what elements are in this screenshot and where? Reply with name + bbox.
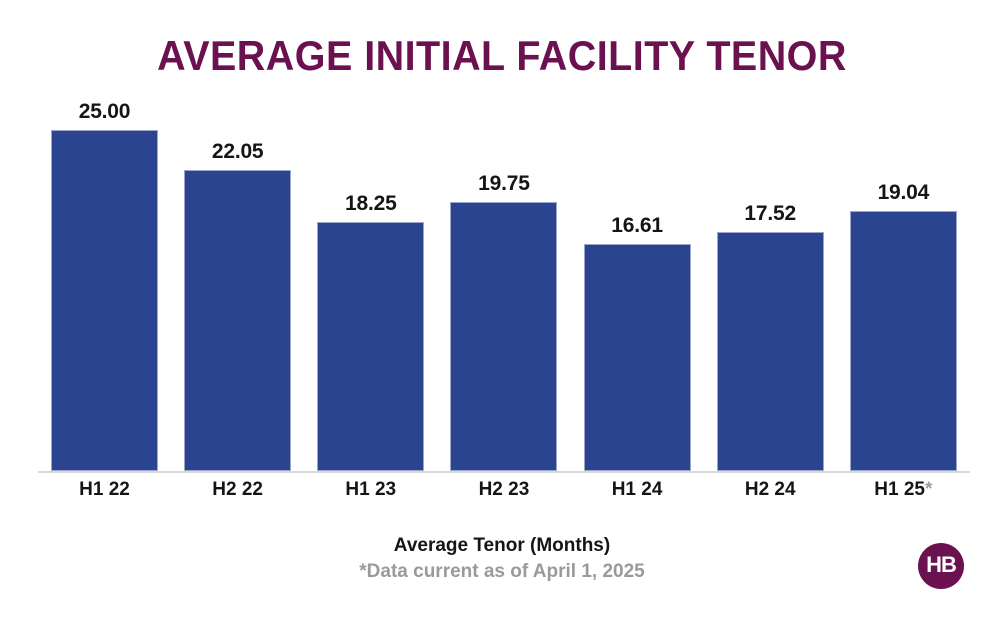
chart-footnote: *Data current as of April 1, 2025 xyxy=(0,560,1004,584)
bar-value-label: 25.00 xyxy=(38,100,171,124)
hb-logo-text: HB xyxy=(926,554,956,576)
bar[interactable] xyxy=(184,170,291,471)
bar-value-label: 18.25 xyxy=(304,192,437,216)
bar-value-label: 16.61 xyxy=(571,214,704,238)
hb-logo: HB xyxy=(918,543,964,589)
bar[interactable] xyxy=(850,211,957,471)
x-axis-tick-labels: H1 22H2 22H1 23H2 23H1 24H2 24H1 25* xyxy=(38,476,970,508)
footnote-asterisk: * xyxy=(925,479,932,500)
x-tick-label: H1 22 xyxy=(38,476,171,504)
x-axis-line xyxy=(38,471,970,473)
bar-group: 25.00 xyxy=(38,100,171,471)
bar[interactable] xyxy=(584,244,691,471)
bar-group: 18.25 xyxy=(304,100,437,471)
bar-value-label: 19.75 xyxy=(437,172,570,196)
bar[interactable] xyxy=(717,232,824,471)
bar-group: 19.75 xyxy=(437,100,570,471)
x-tick-label: H2 23 xyxy=(437,476,570,504)
bar-group: 16.61 xyxy=(571,100,704,471)
x-axis-caption: Average Tenor (Months) xyxy=(0,534,1004,558)
bar-group: 17.52 xyxy=(704,100,837,471)
x-tick-label: H2 22 xyxy=(171,476,304,504)
plot-area: 25.0022.0518.2519.7516.6117.5219.04 xyxy=(38,100,970,473)
x-tick-label: H1 23 xyxy=(304,476,437,504)
bar-group: 22.05 xyxy=(171,100,304,471)
x-tick-label: H2 24 xyxy=(704,476,837,504)
bar[interactable] xyxy=(51,130,158,471)
chart-container: AVERAGE INITIAL FACILITY TENOR 25.0022.0… xyxy=(0,0,1004,619)
chart-title: AVERAGE INITIAL FACILITY TENOR xyxy=(30,31,974,81)
bar-value-label: 22.05 xyxy=(171,140,304,164)
bar[interactable] xyxy=(450,202,557,471)
bar-value-label: 17.52 xyxy=(704,202,837,226)
bar-value-label: 19.04 xyxy=(837,181,970,205)
x-tick-label: H1 24 xyxy=(571,476,704,504)
bar[interactable] xyxy=(317,222,424,471)
x-tick-label: H1 25* xyxy=(837,476,970,504)
bar-group: 19.04 xyxy=(837,100,970,471)
